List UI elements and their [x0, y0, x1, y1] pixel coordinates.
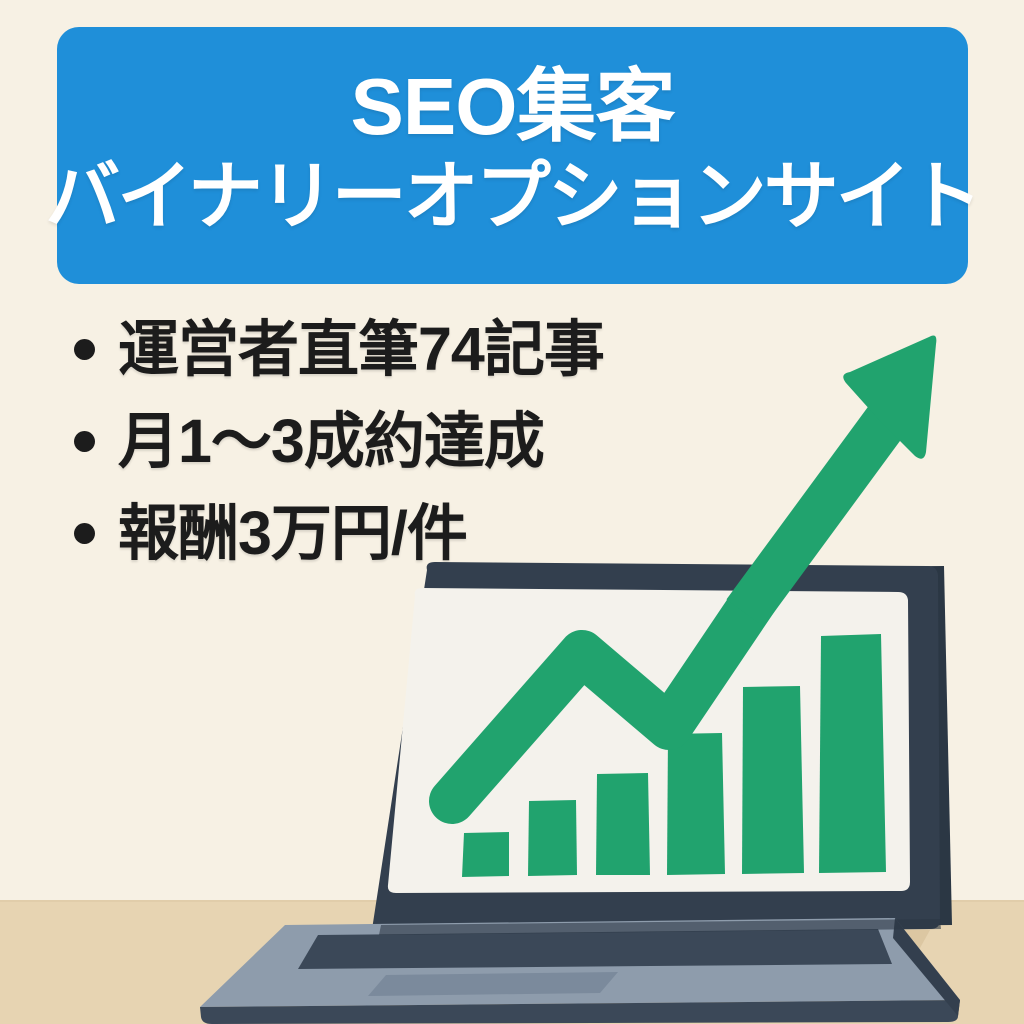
chart-bar-5	[742, 686, 804, 874]
growth-arrow-head	[843, 336, 936, 459]
bullet-label: 報酬3万円/件	[118, 503, 467, 564]
title-banner: SEO集客 バイナリーオプションサイト	[57, 27, 968, 284]
laptop-lid-shadow	[396, 566, 952, 930]
chart-bar-1	[462, 832, 509, 877]
chart-bar-2	[528, 800, 577, 876]
bullet-dot-icon	[74, 523, 95, 544]
banner-title-line-2: バイナリーオプションサイト	[45, 155, 980, 238]
bullet-dot-icon	[74, 431, 95, 452]
bullet-label: 運営者直筆74記事	[118, 319, 604, 380]
bullet-label: 月1〜3成約達成	[118, 411, 544, 472]
list-item: 報酬3万円/件	[62, 494, 702, 572]
laptop-lid-bezel	[373, 562, 940, 932]
banner-title-line-1: SEO集客	[351, 65, 675, 149]
chart-bar-4	[667, 733, 725, 875]
desk-surface	[0, 900, 1024, 1024]
list-item: 月1〜3成約達成	[62, 402, 702, 480]
desk-edge-line	[0, 900, 1024, 902]
laptop-screen	[388, 588, 910, 893]
chart-bar-6	[819, 634, 886, 873]
feature-bullet-list: 運営者直筆74記事 月1〜3成約達成 報酬3万円/件	[62, 310, 702, 586]
bullet-dot-icon	[74, 339, 95, 360]
chart-bar-3	[596, 773, 650, 875]
growth-arrow-shaft	[745, 413, 892, 613]
list-item: 運営者直筆74記事	[62, 310, 702, 388]
growth-arrow	[745, 336, 936, 613]
poster-canvas: SEO集客 バイナリーオプションサイト 運営者直筆74記事 月1〜3成約達成 報…	[0, 0, 1024, 1024]
